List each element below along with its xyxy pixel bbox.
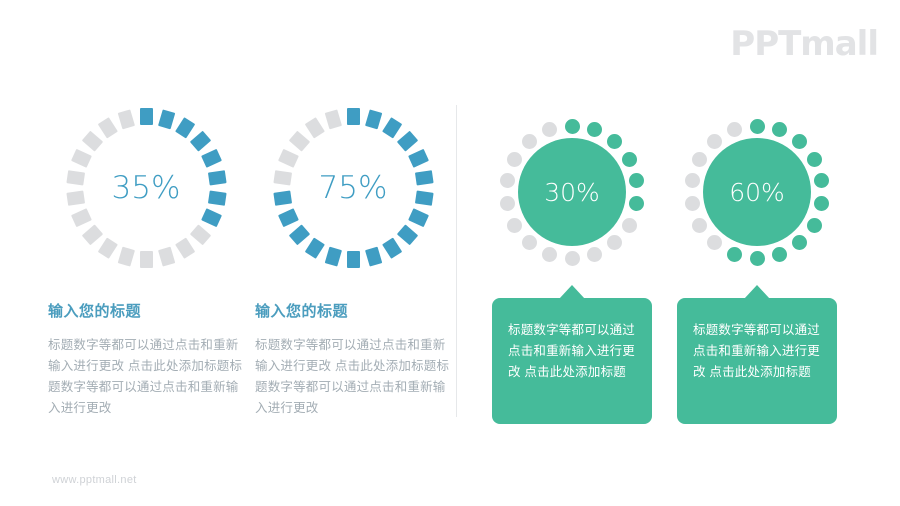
segmented-donut-75: 75% bbox=[273, 108, 433, 268]
orbit-dot bbox=[750, 251, 765, 266]
dotted-circle-60: 60% bbox=[677, 112, 837, 272]
slide-canvas: PPTmall 35% 输入您的标题 标题数字等都可以通过点击和重新输入进行更改… bbox=[0, 0, 900, 506]
orbit-dot bbox=[727, 122, 742, 137]
gauge-75-text-block: 输入您的标题 标题数字等都可以通过点击和重新输入进行更改 点击此处添加标题标题数… bbox=[255, 278, 451, 419]
gauge-35-heading: 输入您的标题 bbox=[48, 300, 244, 321]
orbit-dot bbox=[727, 247, 742, 262]
callout-pointer-icon bbox=[559, 285, 585, 299]
orbit-dot bbox=[507, 218, 522, 233]
bloom-60-callout-text: 标题数字等都可以通过点击和重新输入进行更改 点击此处添加标题 bbox=[693, 323, 820, 379]
orbit-dot bbox=[685, 173, 700, 188]
bloom-60-callout: 标题数字等都可以通过点击和重新输入进行更改 点击此处添加标题 bbox=[677, 298, 837, 424]
orbit-dot bbox=[792, 134, 807, 149]
orbit-dot bbox=[622, 218, 637, 233]
orbit-dot bbox=[814, 196, 829, 211]
gauge-75-heading: 输入您的标题 bbox=[255, 300, 451, 321]
bloom-60-chart: 60% bbox=[677, 112, 837, 272]
orbit-dot bbox=[692, 152, 707, 167]
orbit-dot bbox=[750, 119, 765, 134]
orbit-dot bbox=[542, 122, 557, 137]
dotted-circle-30: 30% bbox=[492, 112, 652, 272]
orbit-dot bbox=[507, 152, 522, 167]
bloom-30-callout-wrap: 标题数字等都可以通过点击和重新输入进行更改 点击此处添加标题 bbox=[492, 271, 652, 424]
orbit-dot bbox=[707, 235, 722, 250]
gauge-35-percent: 35% bbox=[66, 108, 226, 268]
segmented-donut-35: 35% bbox=[66, 108, 226, 268]
bloom-30-callout-text: 标题数字等都可以通过点击和重新输入进行更改 点击此处添加标题 bbox=[508, 323, 635, 379]
gauge-75-chart: 75% bbox=[255, 108, 451, 268]
callout-pointer-icon bbox=[744, 285, 770, 299]
orbit-dot bbox=[685, 196, 700, 211]
orbit-dot bbox=[772, 247, 787, 262]
gauge-35-body: 标题数字等都可以通过点击和重新输入进行更改 点击此处添加标题标题数字等都可以通过… bbox=[48, 335, 244, 419]
orbit-dot bbox=[565, 251, 580, 266]
orbit-dot bbox=[587, 122, 602, 137]
orbit-dot bbox=[587, 247, 602, 262]
orbit-dot bbox=[772, 122, 787, 137]
bloom-60-callout-wrap: 标题数字等都可以通过点击和重新输入进行更改 点击此处添加标题 bbox=[677, 271, 837, 424]
orbit-dot bbox=[622, 152, 637, 167]
gauge-75-percent: 75% bbox=[273, 108, 433, 268]
orbit-dot bbox=[807, 218, 822, 233]
pptmall-logo: PPTmall bbox=[730, 24, 878, 64]
orbit-dot bbox=[607, 235, 622, 250]
orbit-dot bbox=[629, 196, 644, 211]
orbit-dot bbox=[792, 235, 807, 250]
bloom-60-percent: 60% bbox=[703, 138, 811, 246]
bloom-30-chart: 30% bbox=[492, 112, 652, 272]
bloom-30-callout: 标题数字等都可以通过点击和重新输入进行更改 点击此处添加标题 bbox=[492, 298, 652, 424]
orbit-dot bbox=[707, 134, 722, 149]
orbit-dot bbox=[522, 134, 537, 149]
orbit-dot bbox=[629, 173, 644, 188]
orbit-dot bbox=[807, 152, 822, 167]
orbit-dot bbox=[692, 218, 707, 233]
orbit-dot bbox=[500, 196, 515, 211]
orbit-dot bbox=[814, 173, 829, 188]
gauge-35-text-block: 输入您的标题 标题数字等都可以通过点击和重新输入进行更改 点击此处添加标题标题数… bbox=[48, 278, 244, 419]
orbit-dot bbox=[542, 247, 557, 262]
orbit-dot bbox=[565, 119, 580, 134]
orbit-dot bbox=[607, 134, 622, 149]
gauge-35-chart: 35% bbox=[48, 108, 244, 268]
vertical-divider bbox=[456, 105, 457, 417]
orbit-dot bbox=[522, 235, 537, 250]
footer-url: www.pptmall.net bbox=[52, 474, 137, 486]
gauge-75-body: 标题数字等都可以通过点击和重新输入进行更改 点击此处添加标题标题数字等都可以通过… bbox=[255, 335, 451, 419]
orbit-dot bbox=[500, 173, 515, 188]
bloom-30-percent: 30% bbox=[518, 138, 626, 246]
